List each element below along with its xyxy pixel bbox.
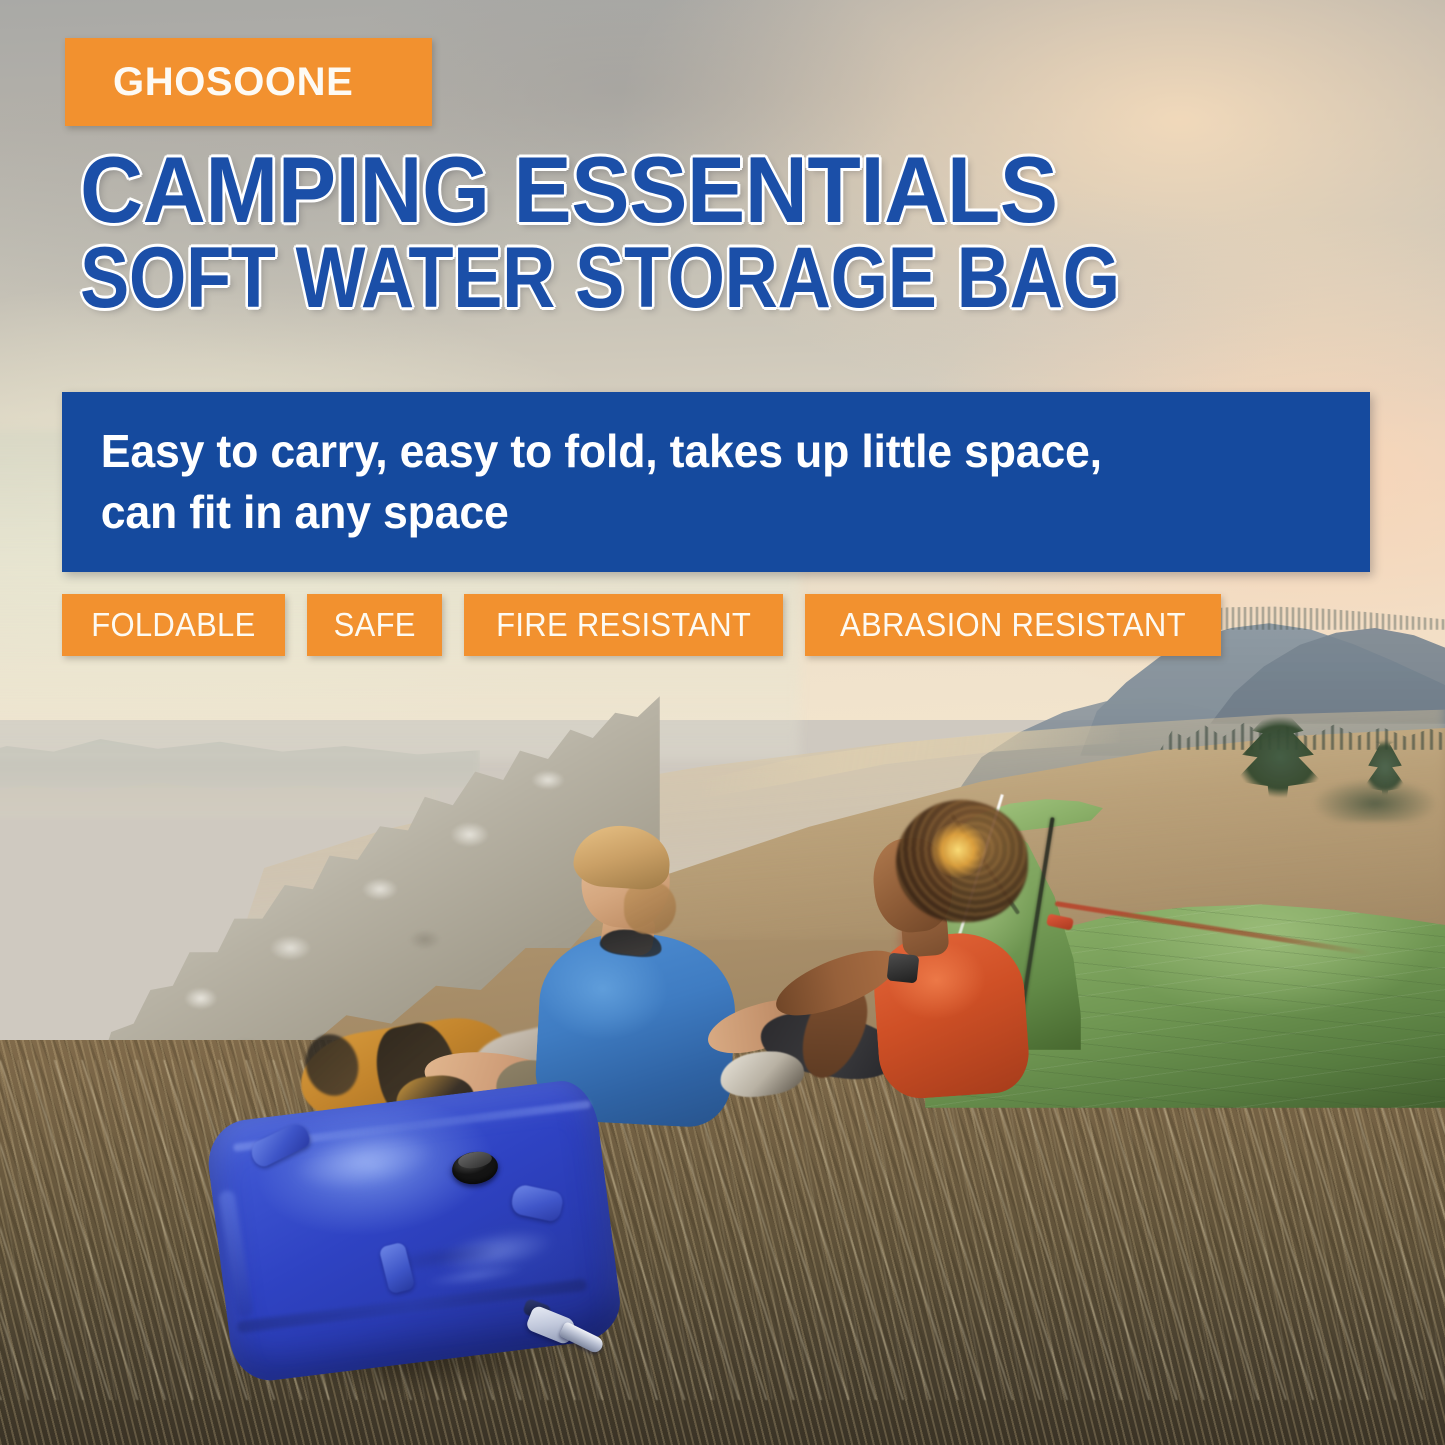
brand-name: GHOSOONE <box>65 60 353 105</box>
feature-tag-label: SAFE <box>333 606 415 644</box>
product-banner: GHOSOONE CAMPING ESSENTIALS SOFT WATER S… <box>0 0 1445 1445</box>
feature-tag-fire-resistant: FIRE RESISTANT <box>464 594 783 656</box>
brand-badge: GHOSOONE <box>65 38 432 126</box>
headline-block: CAMPING ESSENTIALS SOFT WATER STORAGE BA… <box>80 145 1380 320</box>
feature-tag-label: ABRASION RESISTANT <box>841 606 1187 644</box>
feature-tag-foldable: FOLDABLE <box>62 594 285 656</box>
feature-banner-text: Easy to carry, easy to fold, takes up li… <box>62 421 1141 542</box>
headline-line-2: SOFT WATER STORAGE BAG <box>80 238 1198 320</box>
feature-tag-label: FOLDABLE <box>91 606 255 644</box>
feature-banner: Easy to carry, easy to fold, takes up li… <box>62 392 1370 572</box>
feature-tag-abrasion-resistant: ABRASION RESISTANT <box>805 594 1221 656</box>
man-beard <box>624 882 676 934</box>
woman-cup <box>887 953 920 984</box>
feature-banner-line-1: Easy to carry, easy to fold, takes up li… <box>101 421 1102 482</box>
water-storage-bag <box>206 1094 626 1404</box>
feature-tag-row: FOLDABLE SAFE FIRE RESISTANT ABRASION RE… <box>62 594 1221 656</box>
headline-line-1: CAMPING ESSENTIALS <box>80 145 1289 234</box>
feature-tag-label: FIRE RESISTANT <box>496 606 751 644</box>
woman-sitting <box>838 800 1088 1120</box>
man-hair <box>572 823 672 892</box>
sun-flare <box>930 822 986 878</box>
feature-banner-line-2: can fit in any space <box>101 482 1102 543</box>
feature-tag-safe: SAFE <box>307 594 442 656</box>
